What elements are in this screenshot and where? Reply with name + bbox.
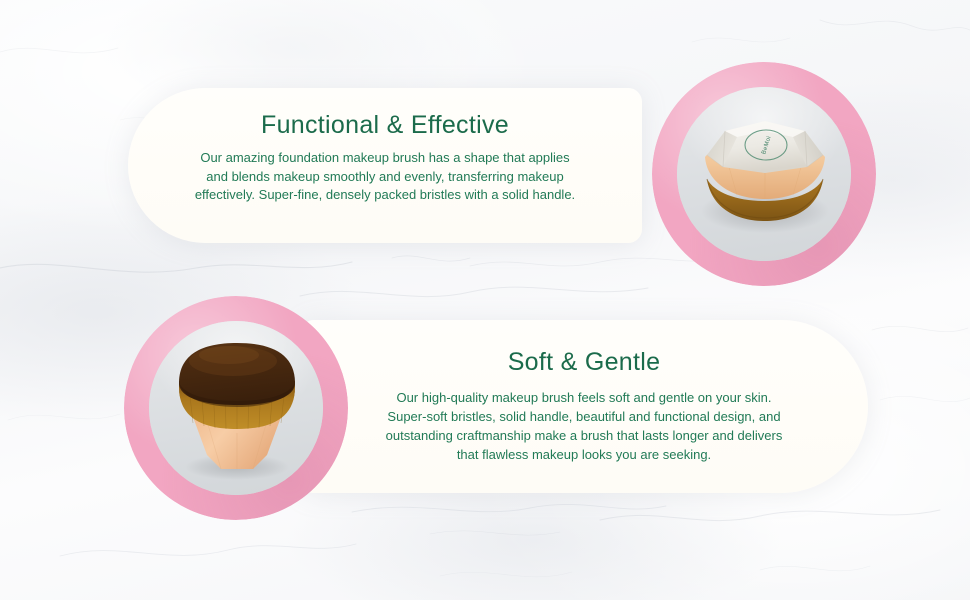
banner-stage: Functional & Effective Our amazing found…: [0, 0, 970, 600]
card-heading: Functional & Effective: [128, 88, 642, 140]
feature-card-soft-gentle: Soft & Gentle Our high-quality makeup br…: [300, 320, 868, 493]
product-medallion-brush-top-view: BeMoi: [652, 62, 876, 286]
card-body-text: Our high-quality makeup brush feels soft…: [382, 377, 786, 464]
brush-illustration-top-view: BeMoi: [677, 87, 851, 261]
product-photo-top-view: BeMoi: [677, 87, 851, 261]
feature-card-functional-effective: Functional & Effective Our amazing found…: [128, 88, 642, 243]
product-medallion-brush-side-view: [124, 296, 348, 520]
card-heading: Soft & Gentle: [300, 320, 868, 377]
card-body-text: Our amazing foundation makeup brush has …: [189, 140, 581, 205]
brush-illustration-side-view: [149, 321, 323, 495]
product-photo-side-view: [149, 321, 323, 495]
